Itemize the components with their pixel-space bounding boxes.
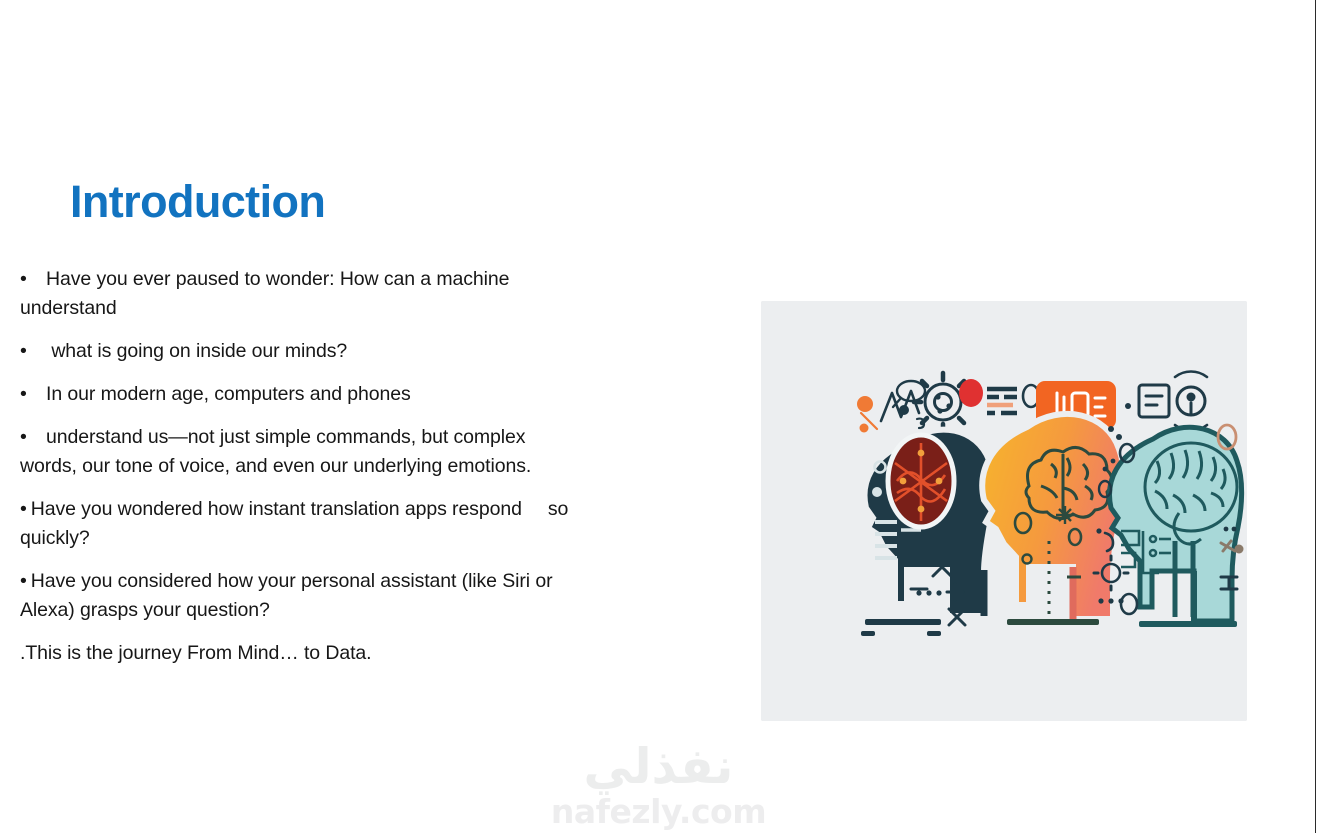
bullet-text: understand us—not just simple commands, … bbox=[20, 426, 531, 477]
bullet-paragraph-3: •In our modern age, computers and phones bbox=[20, 380, 580, 409]
bullet-marker: • bbox=[20, 423, 46, 452]
bullet-marker: • bbox=[20, 380, 46, 409]
bullet-text: Have you considered how your personal as… bbox=[20, 570, 552, 621]
bullet-text: Have you ever paused to wonder: How can … bbox=[20, 268, 509, 319]
bullet-marker: • bbox=[20, 337, 46, 366]
head-base-3 bbox=[1139, 621, 1237, 627]
closing-paragraph: .This is the journey From Mind… to Data. bbox=[20, 639, 580, 668]
head-base-2 bbox=[1007, 619, 1099, 625]
bullet-marker: • bbox=[20, 265, 46, 294]
watermark-arabic: نفذلي bbox=[0, 742, 1317, 791]
watermark-latin: nafezly.com bbox=[0, 795, 1317, 828]
bullet-text: Have you wondered how instant translatio… bbox=[31, 498, 522, 520]
bullet-paragraph-1: •Have you ever paused to wonder: How can… bbox=[20, 265, 580, 323]
page-title: Introduction bbox=[70, 177, 325, 227]
slide-canvas: Introduction •Have you ever paused to wo… bbox=[0, 0, 1317, 833]
bullet-paragraph-4: •understand us—not just simple commands,… bbox=[20, 423, 580, 481]
watermark: نفذلي nafezly.com bbox=[0, 742, 1317, 828]
bullet-marker: • bbox=[20, 570, 27, 592]
bullet-paragraph-6: •Have you considered how your personal a… bbox=[20, 567, 580, 625]
small-dot-icon bbox=[899, 405, 909, 415]
bullet-marker: • bbox=[20, 498, 27, 520]
bullet-text: In our modern age, computers and phones bbox=[46, 383, 411, 405]
head-base-1 bbox=[865, 619, 941, 625]
dots-icon bbox=[916, 590, 941, 595]
body-text-column: •Have you ever paused to wonder: How can… bbox=[20, 265, 580, 668]
bullet-text: what is going on inside our minds? bbox=[46, 340, 347, 362]
illustration-panel bbox=[761, 301, 1247, 721]
slide-right-edge-rule bbox=[1315, 0, 1316, 833]
bullet-paragraph-2: • what is going on inside our minds? bbox=[20, 337, 580, 366]
bullet-paragraph-5: •Have you wondered how instant translati… bbox=[20, 495, 580, 553]
red-circle-icon bbox=[959, 379, 983, 407]
closing-text: .This is the journey From Mind… to Data. bbox=[20, 642, 371, 664]
heads-and-icons-illustration bbox=[761, 301, 1247, 721]
